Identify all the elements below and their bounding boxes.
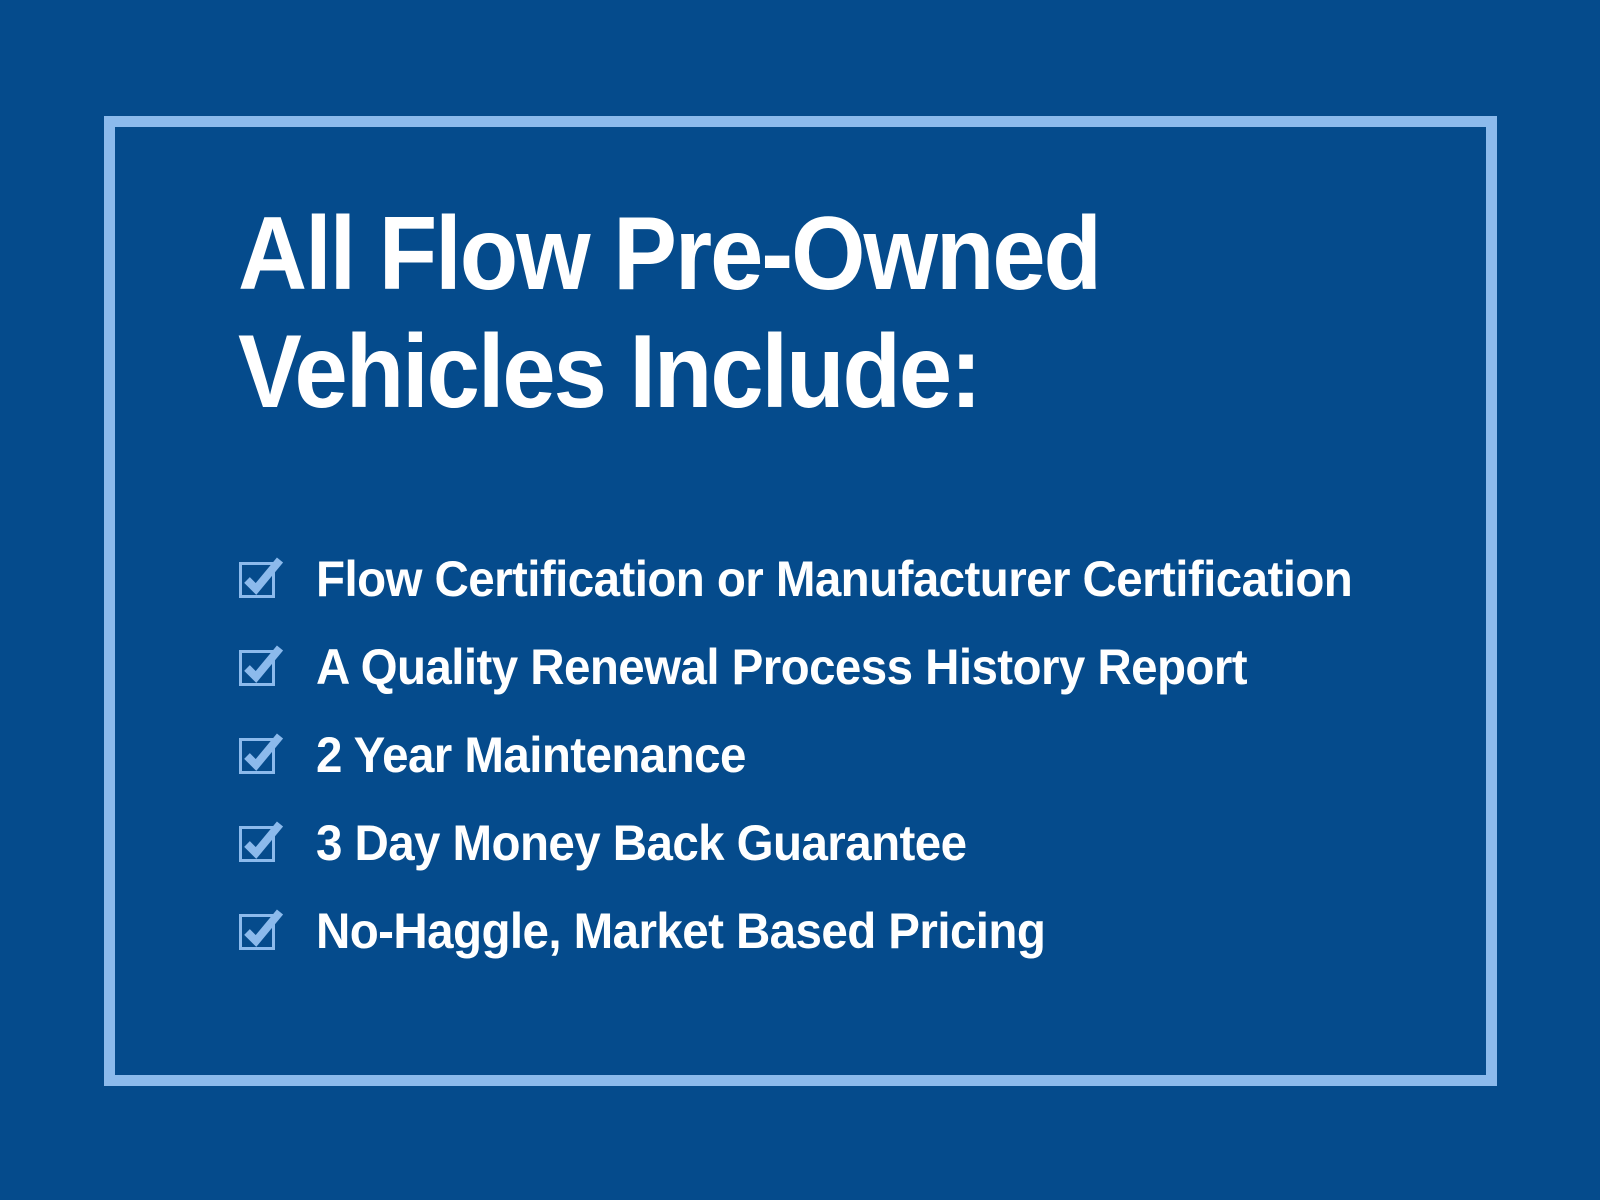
list-item: Flow Certification or Manufacturer Certi… bbox=[238, 535, 1468, 623]
list-item: 3 Day Money Back Guarantee bbox=[238, 799, 1468, 887]
benefits-checklist: Flow Certification or Manufacturer Certi… bbox=[238, 535, 1468, 975]
list-item: A Quality Renewal Process History Report bbox=[238, 623, 1468, 711]
poster-content: All Flow Pre-Owned Vehicles Include: Flo… bbox=[238, 195, 1468, 431]
list-item-label: 2 Year Maintenance bbox=[316, 729, 746, 781]
list-item: No-Haggle, Market Based Pricing bbox=[238, 887, 1468, 975]
list-item-label: No-Haggle, Market Based Pricing bbox=[316, 905, 1045, 957]
checkbox-checked-icon bbox=[238, 556, 284, 602]
list-item-label: Flow Certification or Manufacturer Certi… bbox=[316, 553, 1352, 605]
page-title: All Flow Pre-Owned Vehicles Include: bbox=[238, 195, 1370, 431]
checkbox-checked-icon bbox=[238, 732, 284, 778]
list-item: 2 Year Maintenance bbox=[238, 711, 1468, 799]
promo-poster: All Flow Pre-Owned Vehicles Include: Flo… bbox=[0, 0, 1600, 1200]
checkbox-checked-icon bbox=[238, 908, 284, 954]
list-item-label: A Quality Renewal Process History Report bbox=[316, 641, 1247, 693]
list-item-label: 3 Day Money Back Guarantee bbox=[316, 817, 966, 869]
checkbox-checked-icon bbox=[238, 644, 284, 690]
checkbox-checked-icon bbox=[238, 820, 284, 866]
